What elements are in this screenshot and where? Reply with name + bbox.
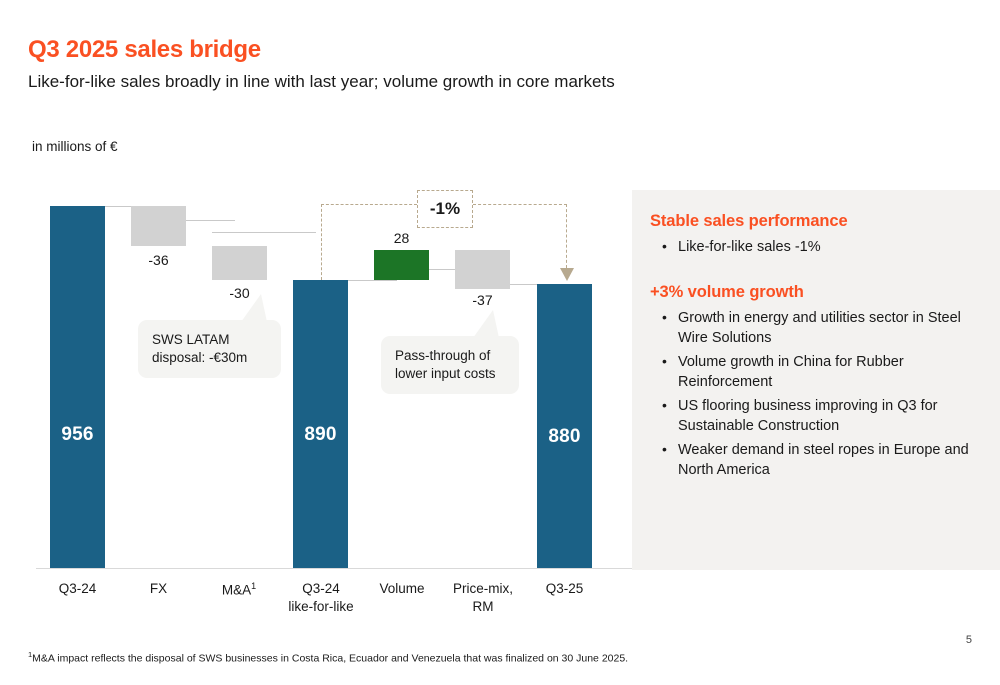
page-title: Q3 2025 sales bridge — [28, 36, 261, 64]
bar-value-fx: -36 — [131, 252, 186, 268]
panel-list-stable-sales: Like-for-like sales -1% — [650, 237, 978, 257]
delta-bracket-left-arm — [321, 204, 417, 205]
list-item: Volume growth in China for Rubber Reinfo… — [650, 352, 978, 392]
panel-list-volume-growth: Growth in energy and utilities sector in… — [650, 308, 978, 480]
bar-q3-25[interactable]: 880 — [537, 284, 592, 568]
bar-volume[interactable] — [374, 250, 429, 280]
insights-panel: Stable sales performance Like-for-like s… — [632, 190, 1000, 570]
connector-line-3 — [212, 232, 316, 233]
axis-label-q3-24: Q3-24 — [50, 580, 105, 598]
bar-value-q3-24: 956 — [50, 424, 105, 446]
callout-pass-through-line-1: Pass-through of — [395, 348, 490, 363]
axis-label-q3-25-line1: Q3-25 — [546, 581, 584, 596]
callout-ma-tail — [241, 294, 267, 322]
axis-label-m-and-a-superscript: 1 — [251, 581, 256, 591]
chart-axis-line — [36, 568, 632, 569]
callout-ma-disposal: SWS LATAM disposal: -€30m — [138, 320, 281, 378]
chart-units-label: in millions of € — [32, 139, 118, 154]
delta-bracket-left-stem — [321, 204, 322, 280]
axis-label-price-mix-rm: Price-mix, RM — [445, 580, 521, 616]
list-item: US flooring business improving in Q3 for… — [650, 396, 978, 436]
bar-value-price-mix-rm: -37 — [455, 292, 510, 308]
bar-q3-24[interactable]: 956 — [50, 206, 105, 568]
axis-label-m-and-a: M&A1 — [205, 580, 273, 600]
list-item: Growth in energy and utilities sector in… — [650, 308, 978, 348]
delta-arrow-icon — [560, 268, 574, 281]
callout-ma-line-1: SWS LATAM — [152, 332, 230, 347]
bar-value-q3-24-like-for-like: 890 — [293, 424, 348, 446]
bar-q3-24-like-for-like[interactable]: 890 — [293, 280, 348, 568]
axis-label-m-and-a-line1: M&A — [222, 583, 251, 598]
page-number: 5 — [966, 634, 972, 646]
list-item: Weaker demand in steel ropes in Europe a… — [650, 440, 978, 480]
axis-label-q3-24-like-for-like: Q3-24 like-for-like — [281, 580, 361, 616]
bar-m-and-a[interactable] — [212, 246, 267, 280]
axis-label-fx-line1: FX — [150, 581, 167, 596]
list-item: Like-for-like sales -1% — [650, 237, 978, 257]
page-subtitle: Like-for-like sales broadly in line with… — [28, 72, 615, 92]
axis-label-lfl-line2: like-for-like — [288, 599, 353, 614]
axis-label-lfl-line1: Q3-24 — [302, 581, 340, 596]
axis-label-price-mix-line2: RM — [473, 599, 494, 614]
callout-pass-through: Pass-through of lower input costs — [381, 336, 519, 394]
callout-pass-through-line-2: lower input costs — [395, 366, 496, 381]
callout-ma-line-2: disposal: -€30m — [152, 350, 247, 365]
footnote: 1M&A impact reflects the disposal of SWS… — [28, 650, 628, 665]
delta-percent-badge: -1% — [417, 190, 473, 228]
delta-bracket-right-arm — [473, 204, 567, 205]
panel-heading-stable-sales: Stable sales performance — [650, 212, 978, 231]
bar-price-mix-rm[interactable] — [455, 250, 510, 289]
axis-label-volume: Volume — [366, 580, 438, 598]
axis-label-fx: FX — [131, 580, 186, 598]
waterfall-chart: 956 -36 -30 890 28 -37 880 SWS LATAM dis… — [0, 180, 632, 630]
panel-heading-volume-growth: +3% volume growth — [650, 283, 978, 302]
delta-bracket-right-stem — [566, 204, 567, 268]
axis-label-q3-25: Q3-25 — [537, 580, 592, 598]
callout-pass-through-tail — [473, 310, 499, 338]
axis-label-price-mix-line1: Price-mix, — [453, 581, 513, 596]
bar-fx[interactable] — [131, 206, 186, 246]
axis-label-volume-line1: Volume — [379, 581, 424, 596]
axis-label-q3-24-line1: Q3-24 — [59, 581, 97, 596]
bar-value-q3-25: 880 — [537, 426, 592, 448]
footnote-text: M&A impact reflects the disposal of SWS … — [32, 653, 628, 665]
bar-value-volume: 28 — [374, 230, 429, 246]
chart-plot-area: 956 -36 -30 890 28 -37 880 — [0, 180, 632, 570]
